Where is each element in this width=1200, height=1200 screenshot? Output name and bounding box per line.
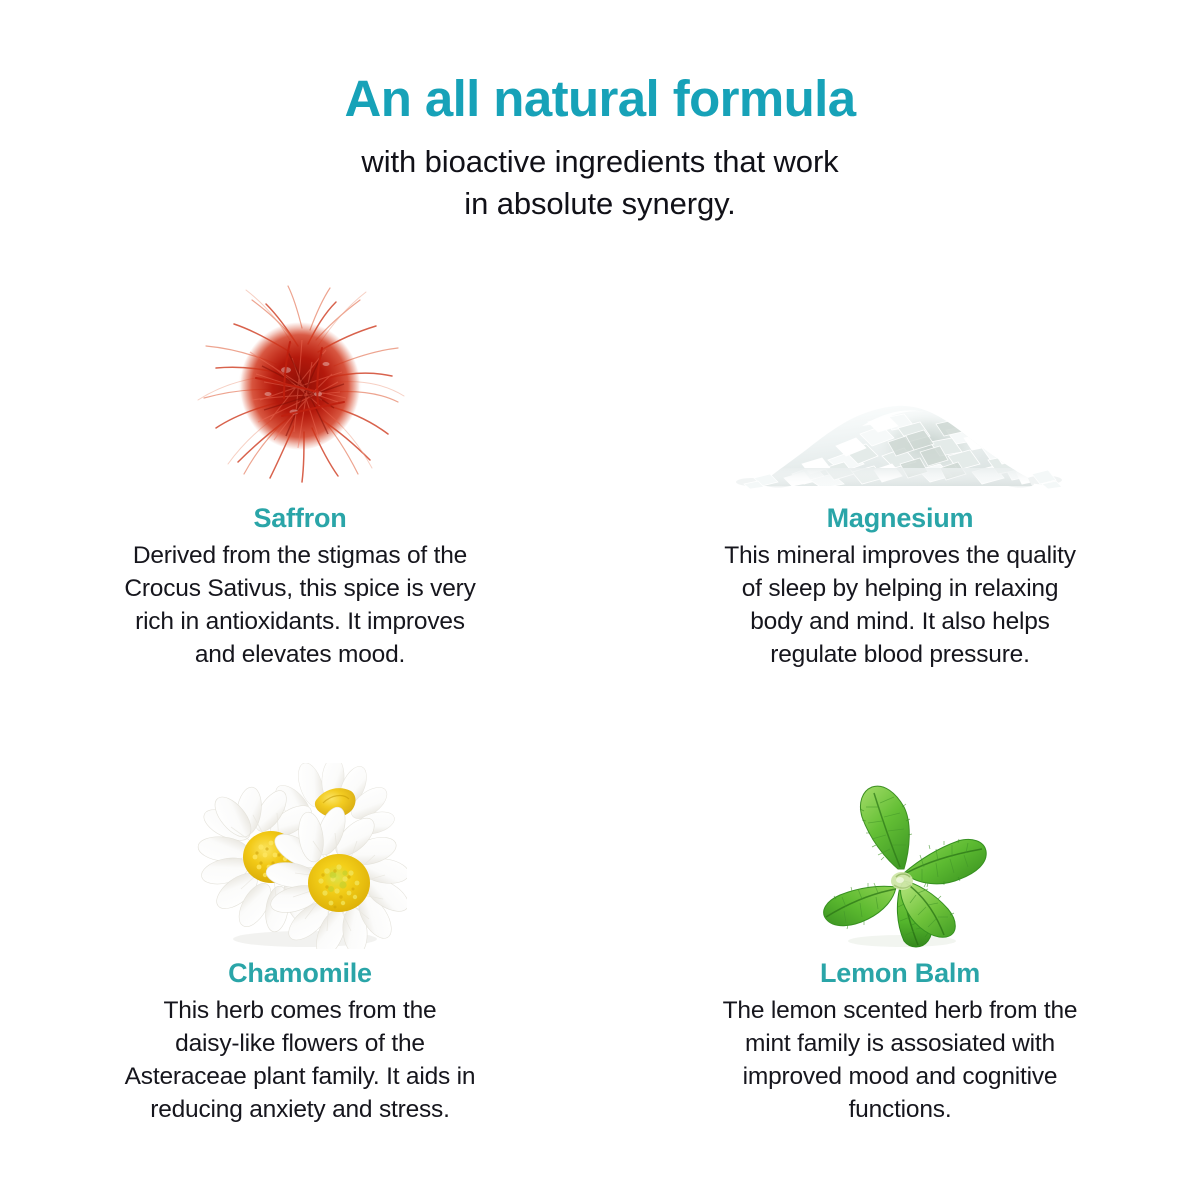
description-line: regulate blood pressure. bbox=[724, 639, 1076, 672]
description-line: functions. bbox=[723, 1094, 1078, 1127]
description-line: and elevates mood. bbox=[124, 639, 475, 672]
description-line: This mineral improves the quality bbox=[724, 540, 1076, 573]
page-subtitle-line-2: in absolute synergy. bbox=[0, 183, 1200, 225]
description-line: of sleep by helping in relaxing bbox=[724, 573, 1076, 606]
ingredient-description-magnesium: This mineral improves the quality of sle… bbox=[724, 540, 1076, 671]
ingredient-description-chamomile: This herb comes from the daisy-like flow… bbox=[125, 995, 476, 1126]
description-line: reducing anxiety and stress. bbox=[125, 1094, 476, 1127]
ingredient-label-chamomile: Chamomile bbox=[228, 957, 372, 989]
page-subtitle: with bioactive ingredients that work in … bbox=[0, 141, 1200, 224]
ingredient-description-lemon-balm: The lemon scented herb from the mint fam… bbox=[723, 995, 1078, 1126]
page-title: An all natural formula bbox=[0, 72, 1200, 125]
description-line: Asteraceae plant family. It aids in bbox=[125, 1061, 476, 1094]
ingredient-card-lemon-balm: Lemon Balm The lemon scented herb from t… bbox=[600, 717, 1200, 1172]
description-line: Derived from the stigmas of the bbox=[124, 540, 475, 573]
description-line: rich in antioxidants. It improves bbox=[124, 606, 475, 639]
ingredients-infographic: An all natural formula with bioactive in… bbox=[0, 0, 1200, 1200]
magnesium-crystals-image bbox=[732, 368, 1068, 494]
description-line: mint family is assosiated with bbox=[723, 1028, 1078, 1061]
ingredient-label-saffron: Saffron bbox=[253, 502, 346, 534]
description-line: improved mood and cognitive bbox=[723, 1061, 1078, 1094]
saffron-art-wrap bbox=[0, 262, 600, 494]
chamomile-flowers-image bbox=[193, 763, 407, 949]
lemon-balm-art-wrap bbox=[600, 717, 1200, 949]
ingredients-grid: Saffron Derived from the stigmas of the … bbox=[0, 262, 1200, 1172]
ingredient-card-magnesium: Magnesium This mineral improves the qual… bbox=[600, 262, 1200, 717]
description-line: Crocus Sativus, this spice is very bbox=[124, 573, 475, 606]
ingredient-card-chamomile: Chamomile This herb comes from the daisy… bbox=[0, 717, 600, 1172]
lemon-balm-leaves-image bbox=[812, 777, 988, 949]
magnesium-art-wrap bbox=[600, 262, 1200, 494]
description-line: daisy-like flowers of the bbox=[125, 1028, 476, 1061]
description-line: The lemon scented herb from the bbox=[723, 995, 1078, 1028]
saffron-threads-image bbox=[194, 282, 406, 494]
ingredient-label-lemon-balm: Lemon Balm bbox=[820, 957, 980, 989]
description-line: body and mind. It also helps bbox=[724, 606, 1076, 639]
chamomile-art-wrap bbox=[0, 717, 600, 949]
description-line: This herb comes from the bbox=[125, 995, 476, 1028]
page-subtitle-line-1: with bioactive ingredients that work bbox=[0, 141, 1200, 183]
ingredient-label-magnesium: Magnesium bbox=[827, 502, 974, 534]
header: An all natural formula with bioactive in… bbox=[0, 72, 1200, 224]
ingredient-card-saffron: Saffron Derived from the stigmas of the … bbox=[0, 262, 600, 717]
ingredient-description-saffron: Derived from the stigmas of the Crocus S… bbox=[124, 540, 475, 671]
